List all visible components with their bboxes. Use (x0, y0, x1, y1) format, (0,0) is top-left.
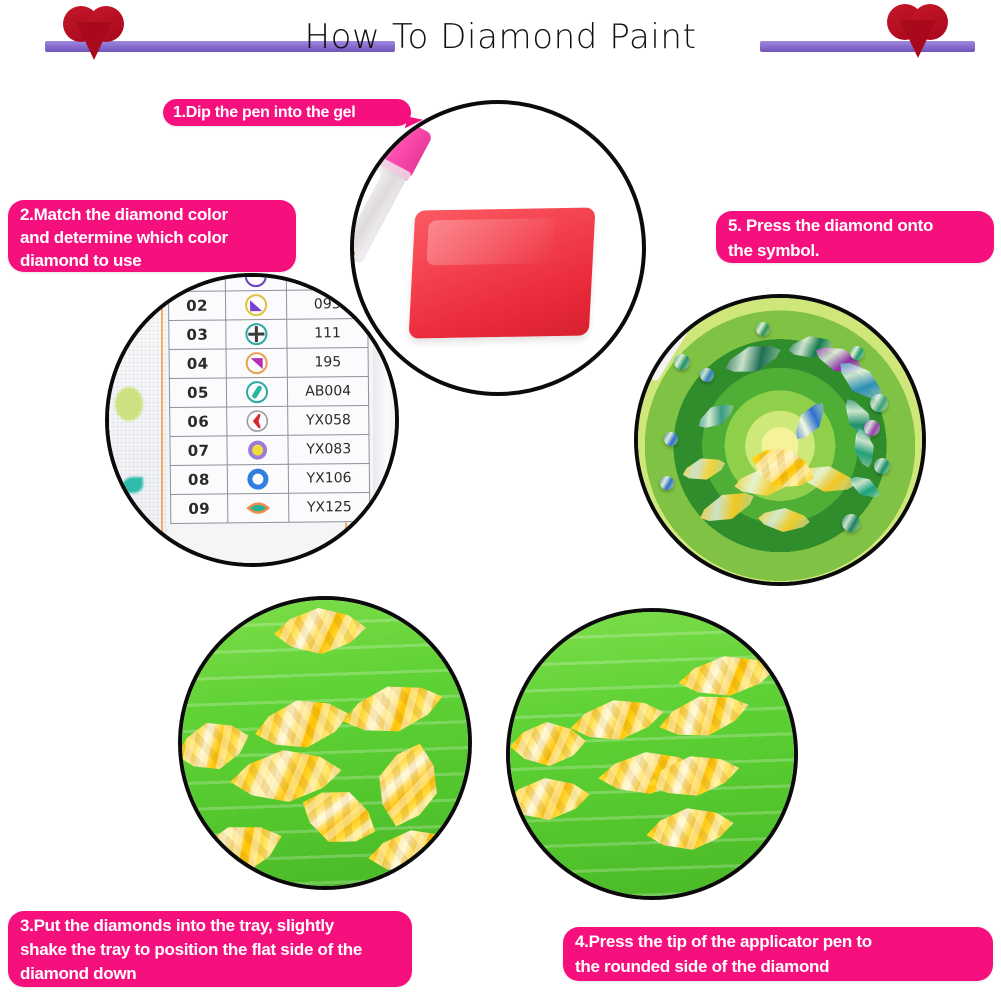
teal-circle-diagonal-capsule-icon (226, 377, 288, 407)
legend-number: 05 (169, 378, 226, 408)
round-gem (664, 432, 678, 446)
round-gem (850, 346, 864, 360)
legend-number: 04 (169, 349, 226, 379)
round-gem (660, 476, 674, 490)
round-gem (756, 322, 770, 336)
purple-circle-two-blue-dots-icon (225, 273, 287, 291)
legend-row: 07YX083 (170, 434, 369, 465)
canvas-fabric (109, 277, 167, 563)
step-5-line-2: the symbol. (728, 238, 982, 263)
step-2-line-1: 2.Match the diamond color (20, 203, 284, 226)
yellow-circle-purple-triangle-icon (225, 290, 287, 320)
legend-number: 09 (171, 494, 228, 524)
step-2-line-2: and determine which color (20, 226, 284, 249)
round-gem (864, 420, 880, 436)
page-title: How To Diamond Paint (0, 16, 1001, 58)
chart-page-edge (373, 277, 389, 563)
step-3-line-1: 3.Put the diamonds into the tray, slight… (20, 914, 400, 938)
header: How To Diamond Paint (0, 0, 1001, 90)
step-5-line-1: 5. Press the diamond onto (728, 213, 982, 238)
step-4-photo (506, 608, 798, 900)
step-4-line-2: the rounded side of the diamond (575, 954, 981, 979)
legend-code: YX125 (289, 492, 370, 522)
legend-row: 04 195 (169, 347, 368, 378)
step-3-line-3: diamond down (20, 962, 400, 986)
teal-circle-plus-icon (226, 319, 288, 349)
legend-number: 07 (170, 436, 227, 466)
round-gem (870, 394, 888, 412)
legend-number: 06 (170, 407, 227, 437)
legend-row: 03 111 (169, 318, 368, 349)
legend-number: 02 (168, 291, 225, 321)
legend-code: AB004 (288, 376, 369, 406)
teal-gem-blob (123, 477, 143, 493)
step-5-photo (634, 294, 926, 586)
round-gem (700, 368, 714, 382)
purple-ring-yellow-center-icon (227, 435, 289, 465)
legend-row: 08YX106 (170, 463, 369, 494)
legend-code: YX058 (288, 405, 369, 435)
legend-code: YX083 (288, 434, 369, 464)
round-gem (874, 458, 890, 474)
legend-row: 09YX125 (171, 492, 370, 523)
color-legend-table: 01 02802 09303 11104 19505 AB00406 YX058… (168, 273, 371, 524)
legend-row: 02 093 (168, 289, 367, 320)
step-4-line-1: 4.Press the tip of the applicator pen to (575, 929, 981, 954)
legend-code: 195 (287, 347, 368, 377)
gel-pad (409, 207, 596, 338)
step-4-label: 4.Press the tip of the applicator pen to… (563, 927, 993, 981)
orange-circle-magenta-triangle-icon (226, 348, 288, 378)
step-5-label: 5. Press the diamond onto the symbol. (716, 211, 994, 263)
legend-code: 111 (287, 318, 368, 348)
infographic-page: How To Diamond Paint 1.Dip the pen into … (0, 0, 1001, 1001)
legend-row: 05 AB004 (169, 376, 368, 407)
step-3-photo (178, 596, 472, 890)
legend-rows: 01 02802 09303 11104 19505 AB00406 YX058… (168, 273, 370, 524)
legend-row: 06 YX058 (170, 405, 369, 436)
chart-margin-line-left (161, 277, 163, 563)
orange-marquise-teal-fill-icon (228, 493, 290, 523)
step-2-line-3: diamond to use (20, 249, 284, 272)
step-3-label: 3.Put the diamonds into the tray, slight… (8, 911, 412, 987)
legend-row: 01 028 (168, 273, 367, 292)
blue-donut-ring-icon (227, 464, 289, 494)
pen-body (350, 161, 406, 265)
legend-number: 03 (169, 320, 226, 350)
step-2-label: 2.Match the diamond color and determine … (8, 200, 296, 272)
legend-number: 08 (170, 465, 227, 495)
step-3-line-2: shake the tray to position the flat side… (20, 938, 400, 962)
grey-circle-red-chevron-icon (227, 406, 289, 436)
legend-number: 01 (168, 273, 225, 292)
step-1-label: 1.Dip the pen into the gel (163, 99, 411, 126)
step-1-line-1: 1.Dip the pen into the gel (173, 99, 401, 126)
legend-code: 093 (287, 289, 368, 319)
green-paint-blob (115, 387, 143, 421)
round-gem (842, 514, 860, 532)
step-2-photo: 01 02802 09303 11104 19505 AB00406 YX058… (105, 273, 399, 567)
legend-code: YX106 (289, 463, 370, 493)
